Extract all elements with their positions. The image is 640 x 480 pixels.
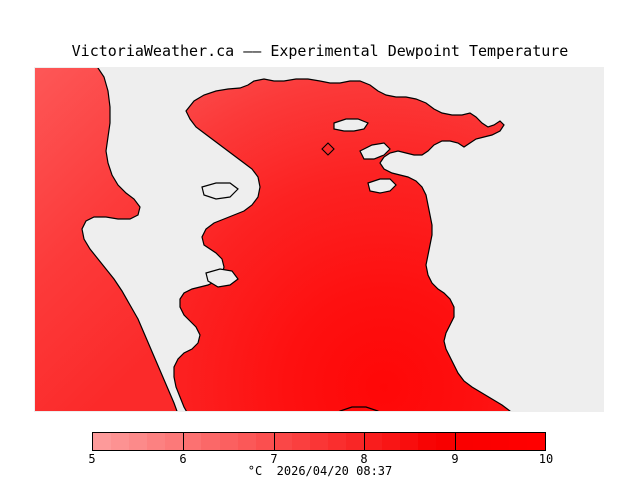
map-canvas[interactable] xyxy=(34,67,604,412)
colorbar-step xyxy=(274,433,292,450)
colorbar-step xyxy=(201,433,219,450)
colorbar-step xyxy=(400,433,418,450)
colorbar-step xyxy=(238,433,256,450)
colorbar-step xyxy=(491,433,509,450)
map-panel[interactable] xyxy=(34,67,604,412)
colorbar-step xyxy=(455,433,473,450)
weather-map-figure: VictoriaWeather.ca —— Experimental Dewpo… xyxy=(0,0,640,480)
colorbar-step xyxy=(509,433,527,450)
colorbar-step xyxy=(220,433,238,450)
inlet-north-bay xyxy=(334,119,368,131)
colorbar-step xyxy=(183,433,201,450)
colorbar-step xyxy=(527,433,545,450)
colorbar-step xyxy=(346,433,364,450)
colorbar-step xyxy=(473,433,491,450)
colorbar[interactable] xyxy=(92,432,546,451)
colorbar-step xyxy=(382,433,400,450)
colorbar-step xyxy=(111,433,129,450)
colorbar-step xyxy=(436,433,454,450)
colorbar-step xyxy=(418,433,436,450)
colorbar-step xyxy=(256,433,274,450)
colorbar-step xyxy=(310,433,328,450)
colorbar-step xyxy=(165,433,183,450)
colorbar-step xyxy=(328,433,346,450)
colorbar-step xyxy=(364,433,382,450)
colorbar-caption: °C 2026/04/20 08:37 xyxy=(0,464,640,478)
colorbar-step xyxy=(93,433,111,450)
colorbar-step xyxy=(129,433,147,450)
colorbar-step xyxy=(147,433,165,450)
colorbar-step xyxy=(292,433,310,450)
page-title: VictoriaWeather.ca —— Experimental Dewpo… xyxy=(0,42,640,60)
colorbar-gradient[interactable] xyxy=(92,432,546,451)
